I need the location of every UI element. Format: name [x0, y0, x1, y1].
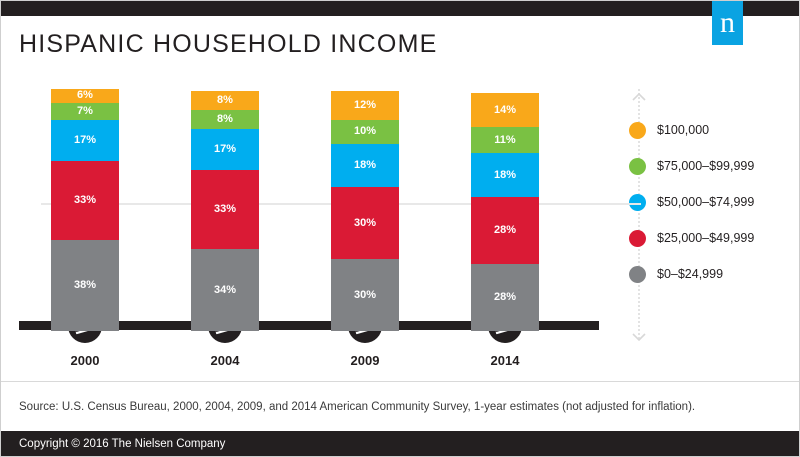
- legend-item-label: $25,000–$49,999: [657, 231, 754, 245]
- stacked-bar-series: 6%7%17%33%38%8%8%17%33%34%12%10%18%30%30…: [1, 81, 621, 331]
- nielsen-logo: n: [712, 1, 743, 45]
- year-label-2009: 2009: [331, 353, 399, 368]
- legend-item[interactable]: $25,000–$49,999: [629, 229, 754, 247]
- bar-segment-label: 17%: [74, 135, 96, 146]
- bar-segment-label: 8%: [217, 95, 233, 106]
- bar-segment-label: 8%: [217, 114, 233, 125]
- bar-segment-label: 28%: [494, 292, 516, 303]
- legend-item-label: $0–$24,999: [657, 267, 723, 281]
- chevron-down-icon[interactable]: [632, 329, 646, 339]
- legend-swatch-icon: [629, 230, 646, 247]
- bar-segment[interactable]: 33%: [191, 170, 259, 249]
- legend-item[interactable]: $0–$24,999: [629, 265, 723, 283]
- infographic-canvas: n HISPANIC HOUSEHOLD INCOME 6%7%17%33%38…: [0, 0, 800, 457]
- bar-segment-label: 38%: [74, 280, 96, 291]
- chart-legend: $100,000$75,000–$99,999$50,000–$74,999$2…: [629, 89, 794, 339]
- bar-segment[interactable]: 17%: [51, 120, 119, 161]
- legend-swatch-icon: [629, 158, 646, 175]
- bar-segment[interactable]: 11%: [471, 127, 539, 153]
- bar-group-2000: 6%7%17%33%38%: [51, 89, 119, 331]
- year-label-2000: 2000: [51, 353, 119, 368]
- bar-segment[interactable]: 30%: [331, 259, 399, 331]
- legend-item-label: $75,000–$99,999: [657, 159, 754, 173]
- legend-item-label: $50,000–$74,999: [657, 195, 754, 209]
- bar-segment-label: 18%: [494, 170, 516, 181]
- bar-segment-label: 18%: [354, 160, 376, 171]
- bar-segment-label: 30%: [354, 290, 376, 301]
- bar-segment-label: 11%: [494, 135, 515, 146]
- year-label-2014: 2014: [471, 353, 539, 368]
- bar-segment-label: 17%: [214, 144, 236, 155]
- bar-segment[interactable]: 33%: [51, 161, 119, 240]
- bar-segment[interactable]: 10%: [331, 120, 399, 144]
- bar-segment[interactable]: 18%: [471, 153, 539, 196]
- year-label-2004: 2004: [191, 353, 259, 368]
- bar-segment-label: 30%: [354, 218, 376, 229]
- legend-item[interactable]: $50,000–$74,999: [629, 193, 754, 211]
- bar-segment[interactable]: 6%: [51, 89, 119, 103]
- bar-segment-label: 10%: [354, 126, 376, 137]
- legend-item-label: $100,000: [657, 123, 709, 137]
- bar-segment-label: 28%: [494, 225, 516, 236]
- bar-segment[interactable]: 30%: [331, 187, 399, 259]
- footer-divider: [1, 381, 800, 382]
- page-title: HISPANIC HOUSEHOLD INCOME: [19, 30, 437, 59]
- legend-swatch-icon: [629, 122, 646, 139]
- bar-group-2009: 12%10%18%30%30%: [331, 91, 399, 331]
- bar-segment[interactable]: 12%: [331, 91, 399, 120]
- bar-segment[interactable]: 18%: [331, 144, 399, 187]
- bar-group-2004: 8%8%17%33%34%: [191, 91, 259, 331]
- bar-segment[interactable]: 8%: [191, 91, 259, 110]
- bar-segment[interactable]: 17%: [191, 129, 259, 170]
- bar-segment-label: 34%: [214, 285, 236, 296]
- source-note: Source: U.S. Census Bureau, 2000, 2004, …: [19, 401, 695, 413]
- bar-segment-label: 33%: [214, 204, 236, 215]
- bar-segment[interactable]: 38%: [51, 240, 119, 331]
- bar-segment[interactable]: 28%: [471, 264, 539, 331]
- bar-group-2014: 14%11%18%28%28%: [471, 93, 539, 331]
- bar-segment[interactable]: 14%: [471, 93, 539, 127]
- bar-segment-label: 33%: [74, 195, 96, 206]
- top-bar: [1, 1, 800, 16]
- bar-segment-label: 12%: [354, 100, 376, 111]
- copyright-text: Copyright © 2016 The Nielsen Company: [19, 438, 225, 450]
- legend-item[interactable]: $100,000: [629, 121, 709, 139]
- bar-segment[interactable]: 28%: [471, 197, 539, 264]
- legend-item[interactable]: $75,000–$99,999: [629, 157, 754, 175]
- bar-segment-label: 14%: [494, 105, 516, 116]
- legend-swatch-icon: [629, 266, 646, 283]
- bar-segment-label: 6%: [77, 90, 93, 101]
- bar-segment-label: 7%: [77, 106, 93, 117]
- legend-swatch-icon: [629, 194, 646, 211]
- bar-segment[interactable]: 8%: [191, 110, 259, 129]
- chevron-up-icon[interactable]: [632, 89, 646, 99]
- bar-segment[interactable]: 7%: [51, 103, 119, 120]
- bar-segment[interactable]: 34%: [191, 249, 259, 331]
